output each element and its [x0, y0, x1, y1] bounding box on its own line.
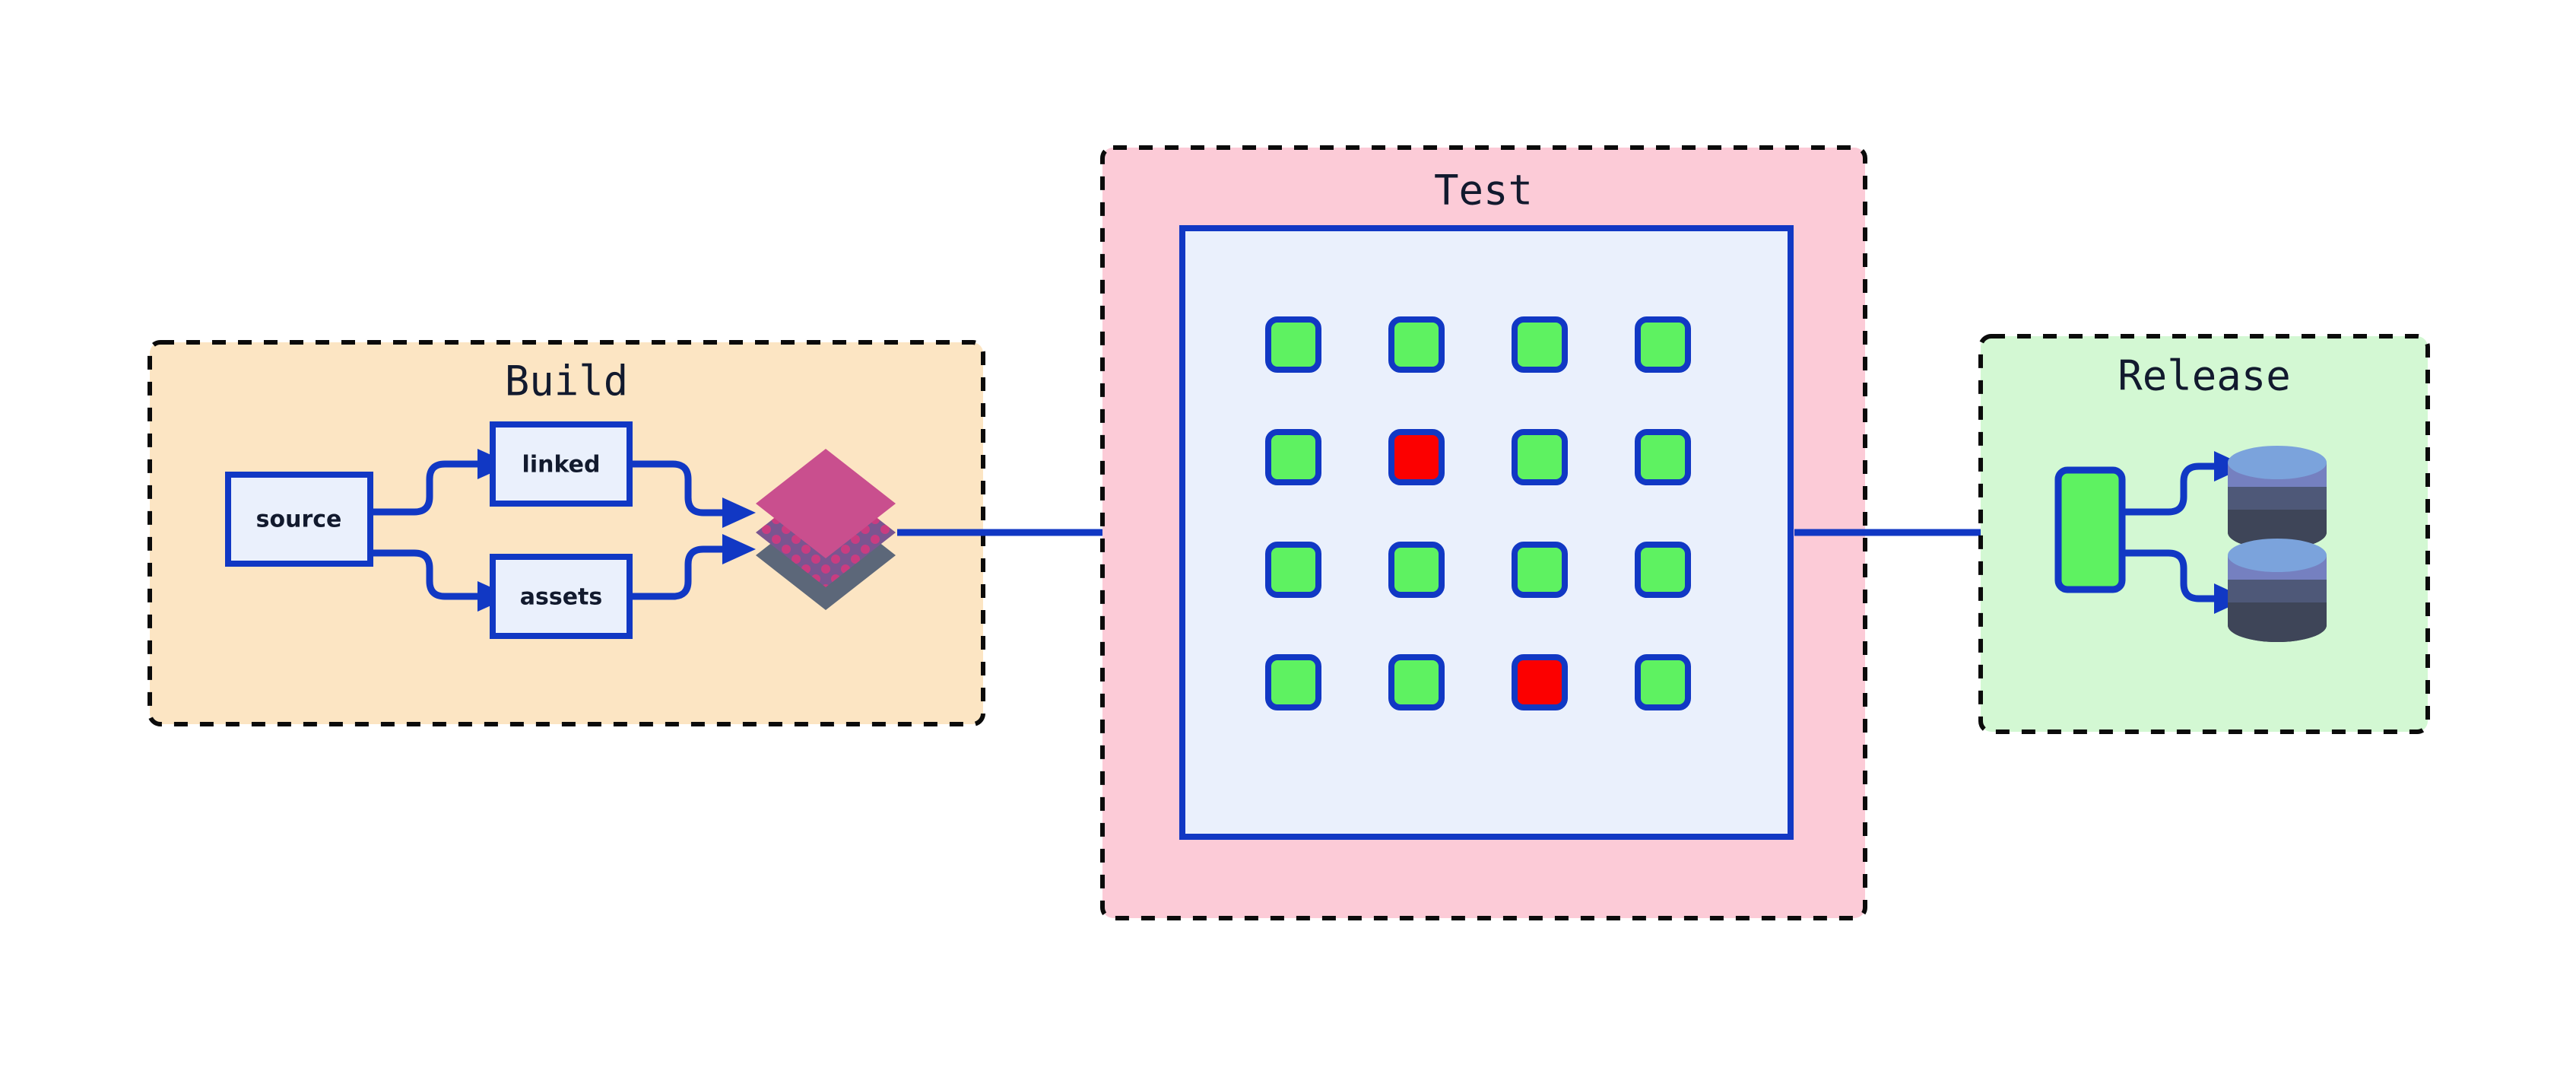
- test-cell-r2c1[interactable]: [1268, 432, 1318, 482]
- test-cell-r4c2[interactable]: [1391, 657, 1442, 707]
- test-cell-r4c3[interactable]: [1515, 657, 1565, 707]
- test-cell-r3c3[interactable]: [1515, 545, 1565, 595]
- group-build: Build source linked: [150, 342, 983, 724]
- group-release: Release: [1981, 336, 2428, 732]
- database-bottom-icon: [2228, 539, 2327, 642]
- build-group-title: Build: [505, 358, 629, 405]
- test-cell-r1c1[interactable]: [1268, 319, 1318, 370]
- release-artifact[interactable]: [2058, 470, 2122, 590]
- release-group-title: Release: [2118, 352, 2291, 400]
- test-cell-r1c4[interactable]: [1638, 319, 1688, 370]
- node-linked-label: linked: [522, 452, 601, 478]
- test-cell-r3c1[interactable]: [1268, 545, 1318, 595]
- test-cell-r3c2[interactable]: [1391, 545, 1442, 595]
- test-cell-r4c4[interactable]: [1638, 657, 1688, 707]
- test-cell-r4c1[interactable]: [1268, 657, 1318, 707]
- node-source-label: source: [256, 507, 342, 533]
- test-cell-r1c2[interactable]: [1391, 319, 1442, 370]
- node-assets-label: assets: [520, 584, 603, 611]
- test-cell-r2c2[interactable]: [1391, 432, 1442, 482]
- node-assets[interactable]: assets: [493, 557, 630, 636]
- node-linked[interactable]: linked: [493, 424, 630, 504]
- test-cell-r3c4[interactable]: [1638, 545, 1688, 595]
- pipeline-diagram: Build source linked: [0, 0, 2576, 1068]
- test-cell-r2c3[interactable]: [1515, 432, 1565, 482]
- test-cell-r2c4[interactable]: [1638, 432, 1688, 482]
- node-source[interactable]: source: [228, 475, 370, 564]
- group-test: Test: [1102, 148, 1865, 918]
- test-group-title: Test: [1434, 167, 1533, 215]
- test-cell-r1c3[interactable]: [1515, 319, 1565, 370]
- database-top-icon: [2228, 446, 2327, 549]
- release-artifact-rect[interactable]: [2058, 470, 2122, 590]
